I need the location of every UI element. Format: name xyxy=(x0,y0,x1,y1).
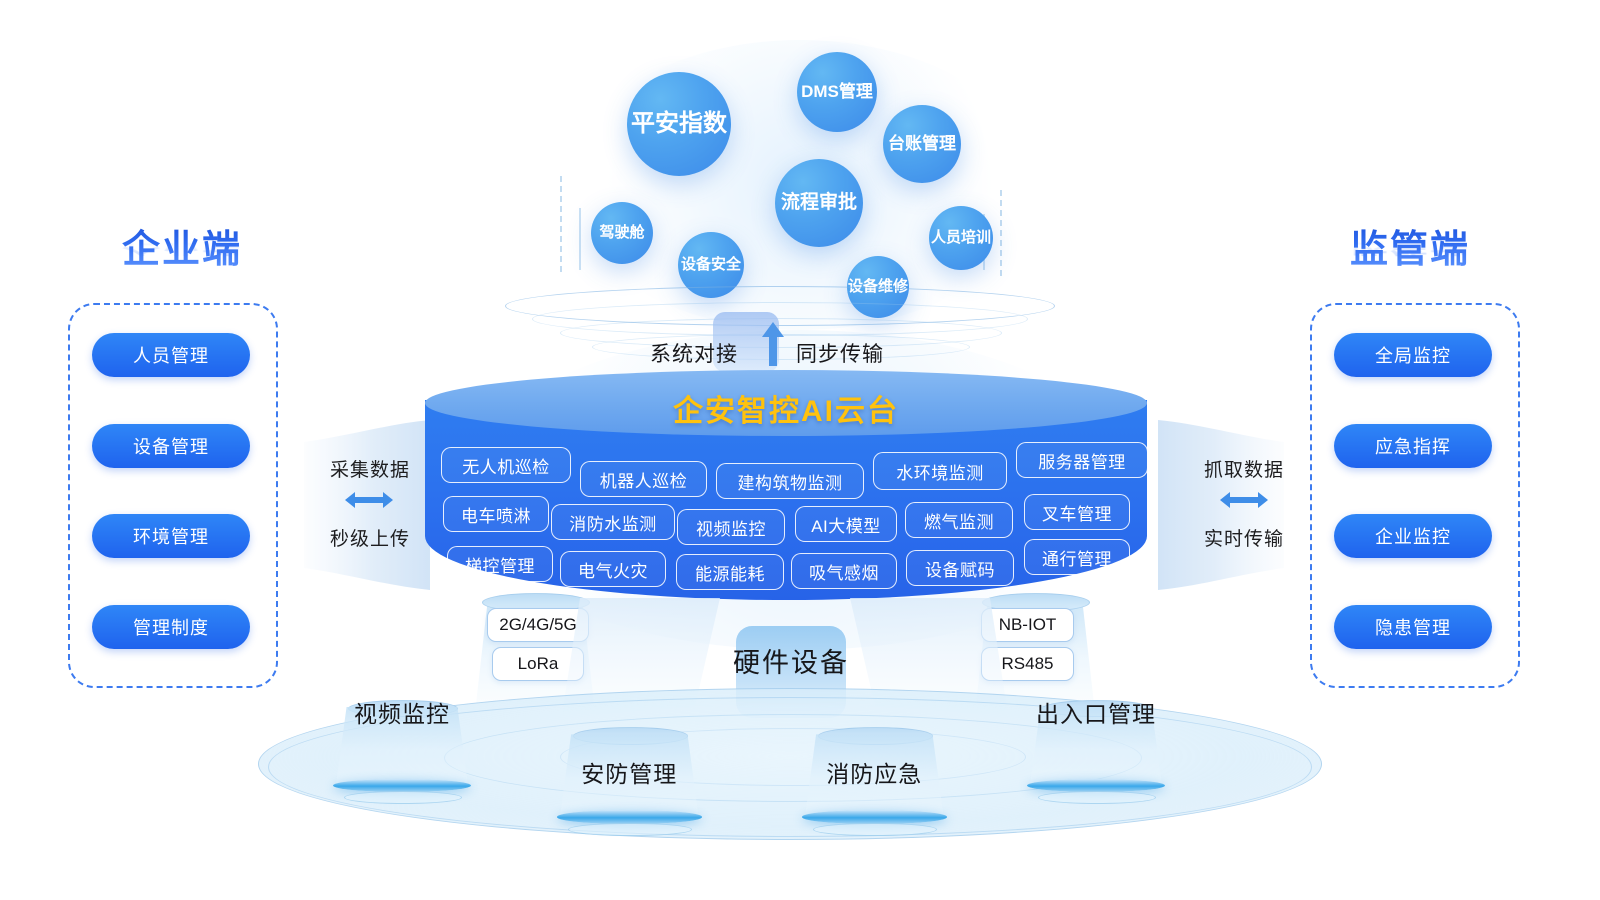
module-13[interactable]: 能源能耗 xyxy=(676,554,784,590)
bubble-0[interactable]: 平安指数 xyxy=(627,72,731,176)
module-8[interactable]: AI大模型 xyxy=(795,506,897,542)
pedestal-1-label: 安防管理 xyxy=(529,755,729,789)
pedestal-2-label: 消防应急 xyxy=(774,755,974,789)
sync-left-label: 系统对接 xyxy=(650,338,738,368)
pedestal-0-base-shadow xyxy=(344,791,462,804)
regulator-item-3[interactable]: 隐患管理 xyxy=(1334,605,1492,649)
pedestal-3-label: 出入口管理 xyxy=(996,695,1196,729)
pedestal-1-base xyxy=(557,810,702,824)
bubble-6[interactable]: 人员培训 xyxy=(929,206,993,270)
pedestal-2-base xyxy=(802,810,947,824)
module-16[interactable]: 通行管理 xyxy=(1024,539,1130,575)
enterprise-item-0[interactable]: 人员管理 xyxy=(92,333,250,377)
architecture-diagram: 企业端 企业端 人员管理 设备管理 环境管理 管理制度 采集数据 秒级上传 监管… xyxy=(0,0,1600,900)
module-9[interactable]: 燃气监测 xyxy=(905,502,1013,538)
left-beam-arrow-icon xyxy=(335,487,403,513)
regulator-item-2[interactable]: 企业监控 xyxy=(1334,514,1492,558)
module-6[interactable]: 消防水监测 xyxy=(551,504,675,540)
module-12[interactable]: 电气火灾 xyxy=(560,551,666,587)
module-11[interactable]: 梯控管理 xyxy=(447,546,553,582)
module-3[interactable]: 水环境监测 xyxy=(873,452,1007,490)
regulator-item-1[interactable]: 应急指挥 xyxy=(1334,424,1492,468)
enterprise-item-3[interactable]: 管理制度 xyxy=(92,605,250,649)
pedestal-0-label: 视频监控 xyxy=(302,695,502,729)
pedestal-2-base-shadow xyxy=(813,823,937,837)
regulator-item-0[interactable]: 全局监控 xyxy=(1334,333,1492,377)
module-15[interactable]: 设备赋码 xyxy=(906,550,1014,586)
hardware-label: 硬件设备 xyxy=(671,641,911,680)
module-0[interactable]: 无人机巡检 xyxy=(441,447,571,483)
module-10[interactable]: 叉车管理 xyxy=(1024,494,1130,530)
right-beam-arrow-icon xyxy=(1210,487,1278,513)
module-7[interactable]: 视频监控 xyxy=(677,509,785,545)
bubble-2[interactable]: 台账管理 xyxy=(883,105,961,183)
enterprise-item-1[interactable]: 设备管理 xyxy=(92,424,250,468)
bubble-1[interactable]: DMS管理 xyxy=(797,52,877,132)
enterprise-title: 企业端 xyxy=(72,218,292,273)
module-2[interactable]: 建构筑物监测 xyxy=(716,463,864,499)
bubble-4[interactable]: 驾驶舱 xyxy=(591,202,653,264)
module-5[interactable]: 电车喷淋 xyxy=(443,496,549,532)
pedestal-1-base-shadow xyxy=(568,823,692,837)
sync-right-label: 同步传输 xyxy=(796,338,884,368)
module-4[interactable]: 服务器管理 xyxy=(1016,442,1148,478)
right-beam-bottom-label: 实时传输 xyxy=(1164,524,1324,551)
regulator-title: 监管端 xyxy=(1300,218,1520,273)
bubble-3[interactable]: 流程审批 xyxy=(775,159,863,247)
module-14[interactable]: 吸气感烟 xyxy=(791,553,897,589)
pedestal-3-base-shadow xyxy=(1038,791,1156,804)
right-beam-top-label: 抓取数据 xyxy=(1164,455,1324,482)
sync-up-arrow-icon xyxy=(760,320,786,368)
decor-dash-left xyxy=(560,176,562,272)
enterprise-item-2[interactable]: 环境管理 xyxy=(92,514,250,558)
module-1[interactable]: 机器人巡检 xyxy=(580,461,707,497)
platform-title: 企安智控AI云台 xyxy=(425,386,1147,430)
